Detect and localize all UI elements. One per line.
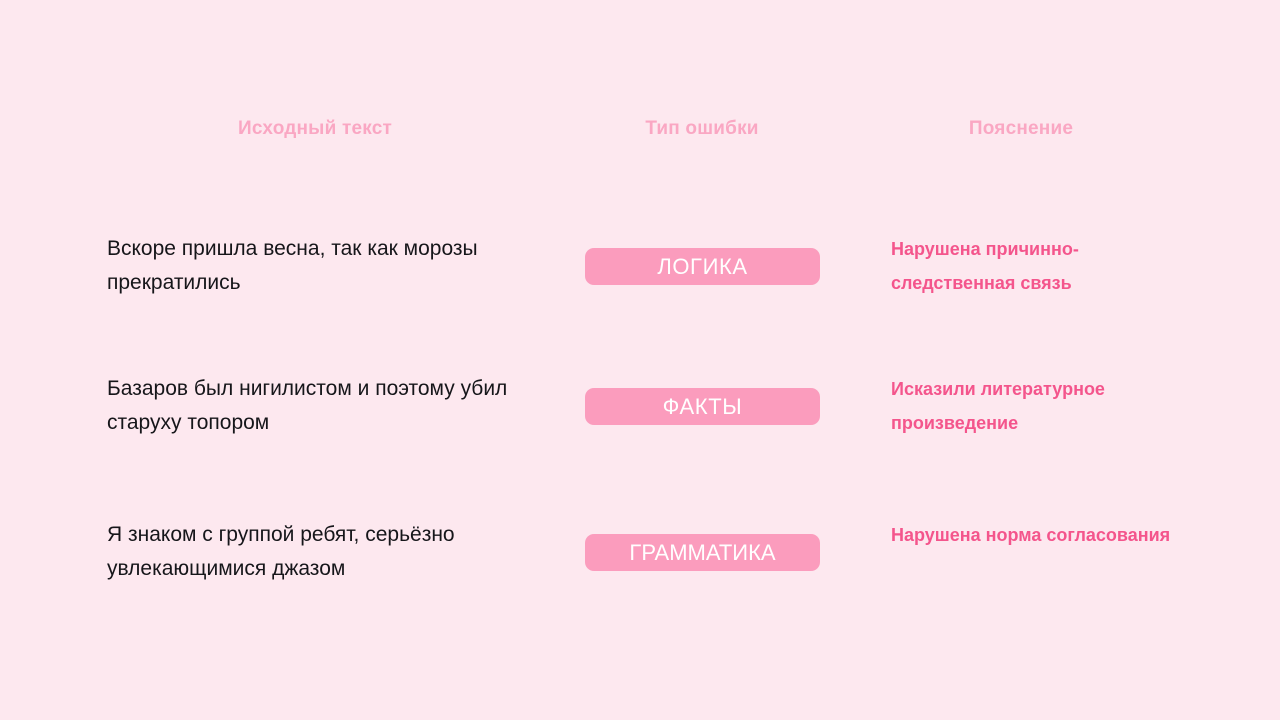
table-row: Вскоре пришла весна, так как морозы прек… xyxy=(0,232,1280,332)
slide-canvas: Исходный текст Тип ошибки Пояснение Вско… xyxy=(0,0,1280,720)
source-text-cell: Я знаком с группой ребят, серьёзно увлек… xyxy=(107,518,552,586)
column-header-error-type: Тип ошибки xyxy=(645,118,758,140)
table-header-row: Исходный текст Тип ошибки Пояснение xyxy=(0,118,1280,150)
table-row: Базаров был нигилистом и поэтому убил ст… xyxy=(0,372,1280,472)
column-header-source-text: Исходный текст xyxy=(238,118,392,140)
column-header-explanation: Пояснение xyxy=(969,118,1073,140)
source-text-cell: Вскоре пришла весна, так как морозы прек… xyxy=(107,232,552,300)
source-text-cell: Базаров был нигилистом и поэтому убил ст… xyxy=(107,372,552,440)
explanation-cell: Исказили литературное произведение xyxy=(891,372,1191,440)
explanation-cell: Нарушена причинно-следственная связь xyxy=(891,232,1191,300)
status-badge: ГРАММАТИКА xyxy=(629,542,775,564)
status-badge: ФАКТЫ xyxy=(663,396,743,418)
explanation-cell: Нарушена норма согласования xyxy=(891,518,1191,552)
error-type-badge: ГРАММАТИКА xyxy=(585,534,820,571)
status-badge: ЛОГИКА xyxy=(657,256,747,278)
error-type-badge: ЛОГИКА xyxy=(585,248,820,285)
error-type-badge: ФАКТЫ xyxy=(585,388,820,425)
table-row: Я знаком с группой ребят, серьёзно увлек… xyxy=(0,518,1280,618)
